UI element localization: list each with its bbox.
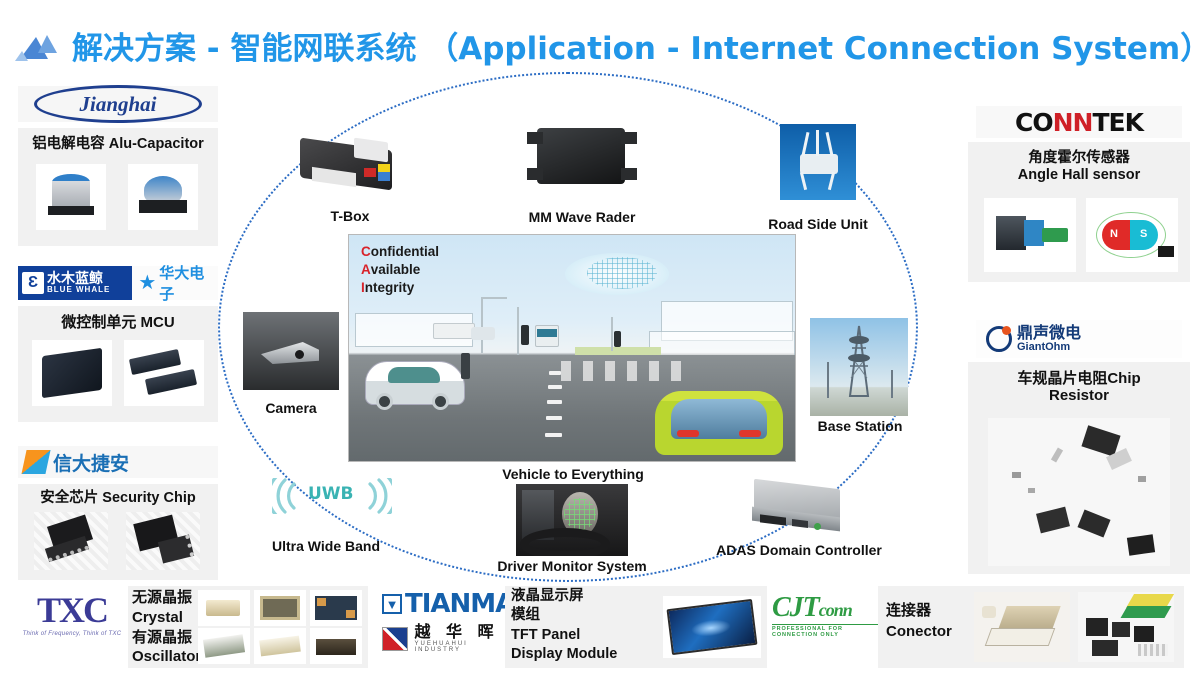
triangles-logo-icon xyxy=(14,23,72,67)
node-label-t-box: T-Box xyxy=(292,208,408,224)
cai-acronym: Confidential Available Integrity xyxy=(361,243,439,296)
connector-photo-1 xyxy=(974,592,1070,662)
node-label-road-side-unit: Road Side Unit xyxy=(762,216,874,232)
panel-chip-resistor: 车规晶片电阻Chip Resistor xyxy=(968,362,1190,574)
page-title-cn: 解决方案 - 智能网联系统 xyxy=(72,31,416,67)
tft-line-1: 液晶显示屏 xyxy=(511,587,617,606)
conntek-logo-text: CONNTEK xyxy=(1015,108,1143,137)
conntek-logo: CONNTEK xyxy=(976,106,1182,138)
panel-security-chip-title: 安全芯片 Security Chip xyxy=(18,484,218,507)
cai-rest-c: onfidential xyxy=(371,244,439,259)
panel-alu-capacitor-title-cn: 铝电解电容 xyxy=(32,136,105,152)
cai-initial-c: C xyxy=(361,244,371,259)
panel-tft-display: 液晶显示屏 模组 TFT Panel Display Module xyxy=(505,586,767,668)
giantohm-mark-icon xyxy=(986,326,1012,352)
crystal-photo-2 xyxy=(254,590,306,626)
huada-electronics-logo: ★ 华大电子 xyxy=(138,270,218,296)
tft-line-4: Display Module xyxy=(511,645,617,664)
panel-mcu-title: 微控制单元 MCU xyxy=(18,306,218,331)
tft-line-2: 模组 xyxy=(511,606,617,625)
crystal-photo-1 xyxy=(198,590,250,626)
mm-wave-radar-photo xyxy=(525,116,637,196)
base-station-photo xyxy=(810,318,908,416)
panel-mcu: 微控制单元 MCU xyxy=(18,306,218,422)
mcu-photo-1 xyxy=(32,340,112,406)
node-label-camera: Camera xyxy=(243,400,339,416)
crystal-line-4: Oscillator xyxy=(132,647,198,667)
driver-monitor-photo xyxy=(516,484,628,556)
node-label-base-station: Base Station xyxy=(804,418,916,434)
cjt-logo-text: CJTconn xyxy=(772,592,890,624)
v2x-scene-illustration: Confidential Available Integrity xyxy=(348,234,796,462)
jianghai-logo: Jianghai xyxy=(18,86,218,122)
yuehuahui-logo-tagline: YUEHUAHUI INDUSTRY xyxy=(414,641,512,654)
crystal-line-3: 有源晶振 xyxy=(132,628,198,648)
magnet-ns-diagram: N S xyxy=(1086,198,1178,272)
security-chip-photo-1 xyxy=(34,512,108,570)
chip-resistor-photo xyxy=(988,418,1170,566)
tianma-logo-text: TIANMA xyxy=(405,589,514,619)
alu-capacitor-photo-2 xyxy=(128,164,198,230)
oscillator-photo-2 xyxy=(254,628,306,664)
road-side-unit-photo xyxy=(780,124,856,200)
tianma-mark-icon: ▼ xyxy=(382,594,402,614)
security-chip-photo-2 xyxy=(126,512,200,570)
star-icon: ★ xyxy=(138,273,156,293)
cjt-logo-tagline: PROFESSIONAL FOR CONNECTION ONLY xyxy=(772,624,890,638)
yuehuahui-logo: 越 华 晖 YUEHUAHUI INDUSTRY xyxy=(382,622,512,656)
panel-crystal-oscillator: 无源晶振 Crystal 有源晶振 Oscillator xyxy=(128,586,368,668)
panel-resistor-title-en: Resistor xyxy=(968,387,1190,404)
panel-alu-capacitor: 铝电解电容 Alu-Capacitor xyxy=(18,128,218,246)
panel-resistor-title-cn: 车规晶片电阻Chip xyxy=(968,370,1190,387)
cai-rest-i: ntegrity xyxy=(365,280,415,295)
node-label-vehicle-to-everything: Vehicle to Everything xyxy=(480,466,666,482)
giantohm-logo-text-en: GiantOhm xyxy=(1017,342,1081,354)
node-label-mm-wave-rader: MM Wave Rader xyxy=(520,209,644,225)
crystal-line-1: 无源晶振 xyxy=(132,588,198,608)
txc-logo-text: TXC xyxy=(23,589,122,631)
panel-security-chip: 安全芯片 Security Chip xyxy=(18,484,218,580)
uwb-badge-text: UWB xyxy=(308,484,354,504)
yuehuahui-mark-icon xyxy=(382,627,408,651)
car-green-pod xyxy=(655,391,783,455)
cai-initial-a: A xyxy=(361,262,371,277)
alu-capacitor-photo-1 xyxy=(36,164,106,230)
panel-angle-hall-sensor: 角度霍尔传感器 Angle Hall sensor N S xyxy=(968,142,1190,282)
crystal-photo-3 xyxy=(310,590,362,626)
node-label-driver-monitor-system: Driver Monitor System xyxy=(484,558,660,574)
giantohm-logo: 鼎声微电 GiantOhm xyxy=(976,320,1182,358)
cjt-conn-logo: CJTconn PROFESSIONAL FOR CONNECTION ONLY xyxy=(768,592,890,638)
connector-line-2: Conector xyxy=(886,621,952,642)
slide-canvas: 解决方案 - 智能网联系统 （Application - Internet Co… xyxy=(0,0,1200,674)
page-title: 解决方案 - 智能网联系统 （Application - Internet Co… xyxy=(72,23,1200,68)
hall-motor-photo xyxy=(984,198,1076,272)
camera-photo xyxy=(243,312,339,390)
panel-connector: 连接器 Conector xyxy=(878,586,1184,668)
cloud-grid-icon xyxy=(587,257,657,289)
blue-whale-mark-icon: Ɛ xyxy=(22,272,44,294)
connector-photo-2 xyxy=(1078,592,1174,662)
connector-line-1: 连接器 xyxy=(886,600,952,621)
txc-logo-tagline: Think of Frequency, Think of TXC xyxy=(23,631,122,637)
crystal-line-2: Crystal xyxy=(132,608,198,628)
mcu-photo-2 xyxy=(124,340,204,406)
car-silver xyxy=(365,361,465,405)
tft-line-3: TFT Panel xyxy=(511,626,617,645)
tianma-logo: ▼ TIANMA xyxy=(382,586,512,622)
t-box-photo xyxy=(292,134,408,196)
panel-alu-capacitor-title-en: Alu-Capacitor xyxy=(109,136,204,152)
xdja-mark-icon xyxy=(21,450,50,474)
blue-whale-logo-text-cn: 水木蓝鲸 xyxy=(47,272,110,286)
huada-logo-text: 华大电子 xyxy=(159,262,218,304)
node-label-ultra-wide-band: Ultra Wide Band xyxy=(254,538,398,554)
uwb-wireless-icon: UWB xyxy=(272,478,392,512)
adas-controller-photo xyxy=(744,478,852,540)
oscillator-photo-3 xyxy=(310,628,362,664)
blue-whale-logo: Ɛ 水木蓝鲸 BLUE WHALE xyxy=(18,266,132,300)
blue-whale-logo-text-en: BLUE WHALE xyxy=(47,286,110,294)
mcu-logos: Ɛ 水木蓝鲸 BLUE WHALE ★ 华大电子 xyxy=(18,266,218,300)
cai-rest-a: vailable xyxy=(371,262,421,277)
txc-logo: TXC Think of Frequency, Think of TXC xyxy=(18,588,126,638)
tft-panel-photo xyxy=(663,596,761,658)
panel-hall-title-cn: 角度霍尔传感器 xyxy=(968,150,1190,167)
xdja-logo-text: 信大捷安 xyxy=(53,449,129,476)
page-title-en: （Application - Internet Connection Syste… xyxy=(427,31,1200,67)
xdja-logo: 信大捷安 xyxy=(18,446,218,478)
yuehuahui-logo-text: 越 华 晖 xyxy=(414,624,512,641)
oscillator-photo-1 xyxy=(198,628,250,664)
node-label-adas-domain-controller: ADAS Domain Controller xyxy=(704,542,894,558)
giantohm-logo-text-cn: 鼎声微电 xyxy=(1017,325,1081,342)
slide-title-bar: 解决方案 - 智能网联系统 （Application - Internet Co… xyxy=(0,14,1200,76)
jianghai-logo-text: Jianghai xyxy=(79,92,156,117)
panel-hall-title-en: Angle Hall sensor xyxy=(968,167,1190,184)
